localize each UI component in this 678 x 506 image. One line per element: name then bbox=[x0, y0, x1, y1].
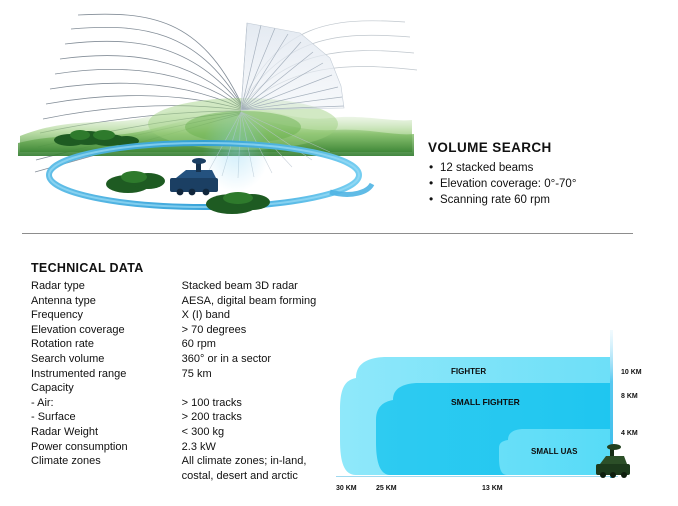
section-divider bbox=[22, 233, 633, 234]
spec-label: Radar type bbox=[31, 279, 182, 294]
spec-label: Elevation coverage bbox=[31, 323, 182, 338]
range-tick-label: 13 KM bbox=[482, 485, 503, 492]
spec-label: Power consumption bbox=[31, 440, 182, 455]
table-row: - Surface > 200 tracks bbox=[31, 410, 331, 425]
spec-label: Frequency bbox=[31, 308, 182, 323]
list-item: Elevation coverage: 0°-70° bbox=[428, 176, 668, 192]
spec-label: Instrumented range bbox=[31, 367, 182, 382]
technical-data-table: Radar type Stacked beam 3D radar Antenna… bbox=[31, 279, 331, 483]
volume-search-panel: VOLUME SEARCH 12 stacked beams Elevation… bbox=[428, 140, 668, 208]
zone-label-small-uas: SMALL UAS bbox=[531, 447, 578, 456]
list-item: 12 stacked beams bbox=[428, 160, 668, 176]
spec-value: Stacked beam 3D radar bbox=[182, 279, 331, 294]
altitude-tick-label: 8 KM bbox=[621, 393, 638, 400]
spec-value: AESA, digital beam forming bbox=[182, 294, 331, 309]
table-row: Instrumented range 75 km bbox=[31, 367, 331, 382]
coverage-diagram: FIGHTER SMALL FIGHTER SMALL UAS 10 KM 8 … bbox=[318, 330, 678, 506]
table-row: Radar type Stacked beam 3D radar bbox=[31, 279, 331, 294]
spec-label: Rotation rate bbox=[31, 337, 182, 352]
range-tick-label: 30 KM bbox=[336, 485, 357, 492]
volume-search-bullet-list: 12 stacked beams Elevation coverage: 0°-… bbox=[428, 160, 668, 208]
spec-value: 2.3 kW bbox=[182, 440, 331, 455]
page-root: VOLUME SEARCH 12 stacked beams Elevation… bbox=[0, 0, 678, 506]
spec-label: Search volume bbox=[31, 352, 182, 367]
altitude-tick-label: 4 KM bbox=[621, 430, 638, 437]
stacked-beam-fan bbox=[241, 23, 344, 110]
spec-value: < 300 kg bbox=[182, 425, 331, 440]
spec-label: Antenna type bbox=[31, 294, 182, 309]
spec-value: > 200 tracks bbox=[182, 410, 331, 425]
technical-data-panel: TECHNICAL DATA Radar type Stacked beam 3… bbox=[31, 261, 331, 483]
table-row: - Air: > 100 tracks bbox=[31, 396, 331, 411]
table-row: Power consumption 2.3 kW bbox=[31, 440, 331, 455]
table-row: Rotation rate 60 rpm bbox=[31, 337, 331, 352]
spec-value: 60 rpm bbox=[182, 337, 331, 352]
technical-data-title: TECHNICAL DATA bbox=[31, 261, 331, 275]
spec-value: 360° or in a sector bbox=[182, 352, 331, 367]
table-row: Radar Weight < 300 kg bbox=[31, 425, 331, 440]
spec-label: - Surface bbox=[31, 410, 182, 425]
spec-value bbox=[182, 381, 331, 396]
spec-label: Capacity bbox=[31, 381, 182, 396]
table-row: Frequency X (I) band bbox=[31, 308, 331, 323]
table-row: Elevation coverage > 70 degrees bbox=[31, 323, 331, 338]
table-row: Climate zones All climate zones; in-land… bbox=[31, 454, 331, 483]
spec-label: Radar Weight bbox=[31, 425, 182, 440]
list-item: Scanning rate 60 rpm bbox=[428, 192, 668, 208]
zone-label-fighter: FIGHTER bbox=[451, 367, 486, 376]
spec-value: > 100 tracks bbox=[182, 396, 331, 411]
spec-value: All climate zones; in-land, costal, dese… bbox=[182, 454, 331, 483]
spec-value: X (I) band bbox=[182, 308, 331, 323]
table-row: Antenna type AESA, digital beam forming bbox=[31, 294, 331, 309]
altitude-tick-label: 10 KM bbox=[621, 369, 642, 376]
spec-label: Climate zones bbox=[31, 454, 182, 483]
range-tick-label: 25 KM bbox=[376, 485, 397, 492]
volume-search-title: VOLUME SEARCH bbox=[428, 140, 668, 155]
zone-label-small-fighter: SMALL FIGHTER bbox=[451, 397, 520, 407]
table-row: Capacity bbox=[31, 381, 331, 396]
spec-label: - Air: bbox=[31, 396, 182, 411]
table-row: Search volume 360° or in a sector bbox=[31, 352, 331, 367]
spec-value: > 70 degrees bbox=[182, 323, 331, 338]
bush-cluster-front bbox=[206, 192, 270, 214]
volume-search-illustration bbox=[0, 0, 420, 228]
spec-value: 75 km bbox=[182, 367, 331, 382]
bush-cluster-mid bbox=[106, 171, 165, 193]
